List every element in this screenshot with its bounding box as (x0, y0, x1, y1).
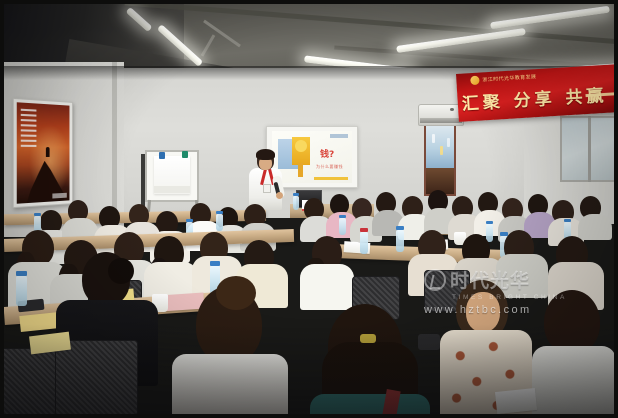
bottle-cap (396, 226, 404, 230)
slide-accent-bar (314, 177, 348, 180)
poster-climber-figure (46, 147, 50, 157)
classroom-photo: 浙江时代光华教育发展 汇聚 分享 共赢 钱? 为什么要赚钱 (0, 0, 618, 418)
poster-logo (52, 193, 66, 199)
bottle-cap (216, 211, 223, 214)
bottle-cap (293, 193, 299, 196)
mobile-phone (418, 334, 440, 350)
handout-paper (19, 312, 60, 332)
slide-figure-leg (298, 163, 303, 177)
water-bottle (216, 214, 223, 231)
motivational-poster-left (13, 98, 73, 208)
flipchart-paper-fold (154, 186, 190, 193)
bottle-cap (186, 219, 193, 222)
water-bottle (396, 230, 404, 252)
bottle-cap (360, 228, 368, 232)
flipchart-clip (182, 151, 188, 158)
audience-face (466, 292, 500, 332)
audience-torso (496, 254, 548, 298)
poster-artwork (17, 102, 70, 203)
presenter-hair (256, 149, 275, 160)
bottle-cap (34, 213, 41, 216)
poster-headline-text (21, 109, 37, 150)
chair (0, 348, 56, 418)
banner-logo-label: 浙江时代光华教育发展 (482, 73, 536, 83)
water-bottle (339, 218, 346, 235)
poster-detail (447, 138, 450, 147)
presentation-slide: 钱? 为什么要赚钱 (272, 131, 352, 183)
poster-right (424, 122, 456, 196)
slide-question-text: 钱? (320, 147, 334, 160)
audience-torso (310, 394, 430, 418)
water-bottle (16, 276, 27, 306)
bottle-cap (486, 221, 493, 224)
water-bottle (360, 232, 368, 254)
hair-clip (360, 334, 376, 343)
event-banner: 浙江时代光华教育发展 汇聚 分享 共赢 (456, 64, 618, 122)
presenter-hand (276, 192, 283, 199)
audience-torso (578, 214, 612, 240)
company-logo-icon (470, 76, 480, 86)
bottle-cap (210, 261, 220, 266)
handout-paper (495, 388, 537, 414)
slide-logo (330, 134, 348, 138)
audience-torso (532, 346, 616, 418)
audience-torso (300, 264, 354, 310)
bottle-cap (564, 219, 571, 222)
audience-head (544, 290, 600, 354)
slide-figure-head (295, 140, 307, 152)
window-mullion (588, 116, 591, 182)
air-conditioner-led (450, 108, 454, 111)
audience-hair-bun (216, 276, 256, 310)
bottle-cap (16, 271, 27, 276)
banner-slogan: 汇聚 分享 共赢 (461, 81, 608, 115)
water-bottle (293, 196, 299, 210)
poster-detail (432, 134, 435, 143)
flipchart-clip (159, 152, 165, 159)
presenter-badge (263, 184, 271, 193)
air-conditioner-vent (420, 118, 462, 123)
slide-subtitle-text: 为什么要赚钱 (316, 164, 343, 170)
poster-detail (440, 146, 443, 155)
audience-torso (172, 354, 288, 418)
audience-hair-bun (108, 258, 134, 284)
banner-logo-row: 浙江时代光华教育发展 (470, 72, 536, 85)
bottle-cap (339, 215, 346, 218)
